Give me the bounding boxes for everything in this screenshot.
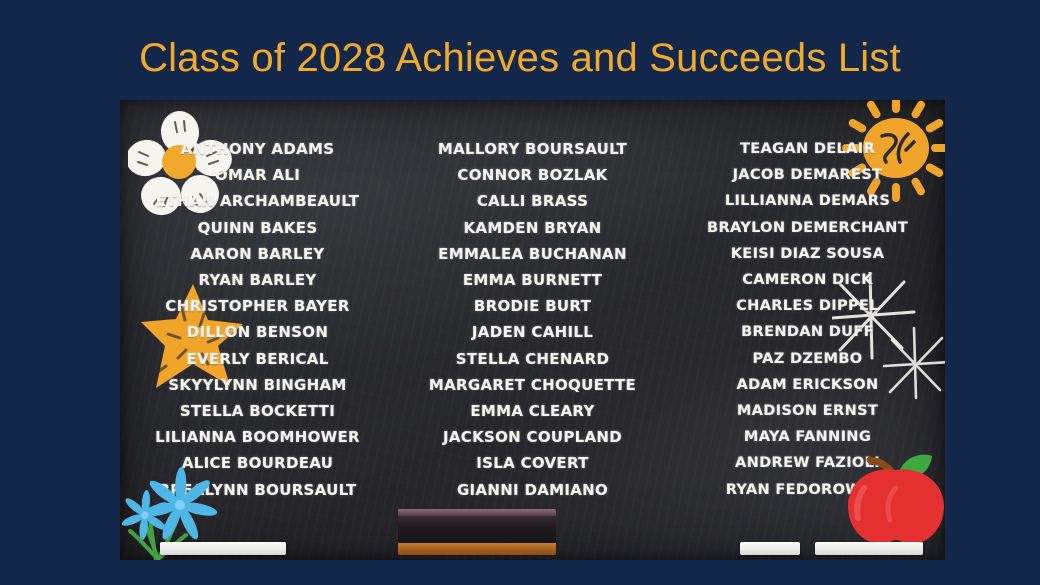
student-name: Emma Cleary <box>470 398 594 424</box>
page-title: Class of 2028 Achieves and Succeeds List <box>0 36 1040 81</box>
eraser-felt <box>398 509 556 544</box>
student-name: Brodie Burt <box>474 293 591 319</box>
student-name: Cameron Dick <box>742 267 873 293</box>
student-name: Christopher Bayer <box>165 293 349 319</box>
student-name: Emma Burnett <box>463 267 602 293</box>
student-name: Jacob Demarest <box>733 162 883 188</box>
student-name: Maya Fanning <box>744 424 871 450</box>
chalk-stick <box>740 542 800 555</box>
chalkboard-eraser <box>398 509 556 555</box>
student-name: Andrew Fazioli <box>735 450 880 476</box>
student-name: Ryan Fedorowicz <box>726 477 890 503</box>
student-name: Jaden Cahill <box>472 319 593 345</box>
student-name: Everly Berical <box>186 346 328 372</box>
student-name: Lillianna Demars <box>725 188 890 214</box>
name-column-2: Mallory Boursault Connor Bozlak Calli Br… <box>395 136 670 503</box>
student-name: Omar Ali <box>215 162 300 188</box>
student-name: Adam Erickson <box>737 372 879 398</box>
student-name: Dillon Benson <box>187 319 328 345</box>
student-name: Keisi Diaz Sousa <box>731 241 885 267</box>
student-name: Charles Dippel <box>736 293 879 319</box>
student-name: Emmalea Buchanan <box>438 241 627 267</box>
student-name: Brealynn Boursault <box>158 477 356 503</box>
student-name: Stella Chenard <box>456 346 609 372</box>
chalkboard: Anthony Adams Omar Ali Ethan Archambeaul… <box>120 100 945 560</box>
student-name: Teagan Delair <box>740 136 875 162</box>
student-name: Aaron Barley <box>190 241 324 267</box>
student-name: Alice Bourdeau <box>182 450 333 476</box>
student-name: Ryan Barley <box>198 267 316 293</box>
student-name: Ethan Archambeault <box>156 188 359 214</box>
student-name: Margaret Choquette <box>429 372 636 398</box>
chalk-stick <box>160 542 286 555</box>
student-name: Connor Bozlak <box>457 162 607 188</box>
student-name: Braylon Demerchant <box>707 215 908 241</box>
student-name: Madison Ernst <box>737 398 878 424</box>
student-name: Anthony Adams <box>181 136 335 162</box>
name-column-1: Anthony Adams Omar Ali Ethan Archambeaul… <box>120 136 395 503</box>
eraser-wood-base <box>398 543 556 555</box>
name-list: Anthony Adams Omar Ali Ethan Archambeaul… <box>120 136 945 503</box>
student-name: Mallory Boursault <box>438 136 627 162</box>
student-name: Quinn Bakes <box>198 215 318 241</box>
student-name: Paz Dzembo <box>752 346 862 372</box>
student-name: Lilianna Boomhower <box>155 424 360 450</box>
student-name: Isla Covert <box>476 450 588 476</box>
student-name: Skyylynn Bingham <box>168 372 346 398</box>
student-name: Gianni Damiano <box>457 477 608 503</box>
student-name: Calli Brass <box>477 188 588 214</box>
student-name: Jackson Coupland <box>443 424 622 450</box>
chalk-stick <box>815 542 923 555</box>
name-column-3: Teagan Delair Jacob Demarest Lillianna D… <box>670 136 945 503</box>
student-name: Kamden Bryan <box>464 215 602 241</box>
student-name: Stella Bocketti <box>180 398 335 424</box>
student-name: Brendan Duff <box>741 319 874 345</box>
slide-root: Class of 2028 Achieves and Succeeds List <box>0 0 1040 585</box>
